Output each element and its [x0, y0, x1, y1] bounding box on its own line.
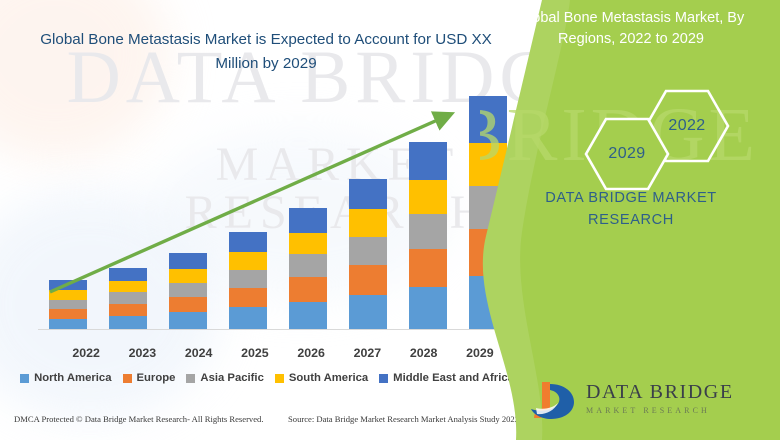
bar-column — [278, 96, 338, 329]
bar-segment[interactable] — [349, 179, 387, 209]
bar-column — [218, 96, 278, 329]
bar-segment[interactable] — [109, 304, 147, 316]
bar-segment[interactable] — [109, 292, 147, 303]
legend-swatch — [123, 374, 132, 383]
x-axis-label: 2027 — [339, 346, 395, 360]
legend-swatch — [20, 374, 29, 383]
logo-text: DATA BRIDGE MARKET RESEARCH — [586, 381, 734, 415]
legend-label: South America — [289, 372, 368, 384]
brand-panel: BRIDGE Global Bone Metastasis Market, By… — [480, 0, 780, 440]
legend-item[interactable]: Asia Pacific — [186, 372, 263, 384]
bar-segment[interactable] — [409, 142, 447, 180]
stacked-bar[interactable] — [229, 232, 267, 329]
bar-segment[interactable] — [289, 208, 327, 233]
hexagon-2029-label: 2029 — [584, 145, 670, 163]
bar-segment[interactable] — [169, 312, 207, 329]
bar-segment[interactable] — [229, 252, 267, 270]
legend-swatch — [186, 374, 195, 383]
footer: DMCA Protected © Data Bridge Market Rese… — [0, 412, 545, 436]
bar-segment[interactable] — [409, 249, 447, 287]
infographic-root: DATA BRIDGE MARKET RESEARCH Global Bone … — [0, 0, 780, 440]
x-axis-labels: 20222023202420252026202720282029 — [58, 346, 508, 360]
chart-plot-area: 20222023202420252026202720282029 — [38, 96, 518, 338]
x-axis-label: 2022 — [58, 346, 114, 360]
bar-segment[interactable] — [49, 309, 87, 318]
bar-segment[interactable] — [229, 270, 267, 288]
legend-item[interactable]: South America — [275, 372, 368, 384]
panel-title: Global Bone Metastasis Market, By Region… — [506, 8, 756, 49]
bar-segment[interactable] — [409, 287, 447, 329]
bar-column — [98, 96, 158, 329]
x-axis-label: 2025 — [227, 346, 283, 360]
logo-sub-text: MARKET RESEARCH — [586, 406, 734, 415]
bar-column — [158, 96, 218, 329]
bar-segment[interactable] — [349, 237, 387, 265]
bar-segment[interactable] — [349, 209, 387, 236]
panel-brand-text: DATA BRIDGE MARKET RESEARCH — [506, 188, 756, 232]
stacked-bar[interactable] — [109, 268, 147, 329]
bar-segment[interactable] — [169, 253, 207, 269]
bar-segment[interactable] — [349, 265, 387, 295]
bar-segment[interactable] — [169, 297, 207, 312]
bar-segment[interactable] — [109, 281, 147, 292]
x-axis-line — [38, 329, 518, 330]
stacked-bar[interactable] — [169, 253, 207, 329]
x-axis-label: 2024 — [171, 346, 227, 360]
logo-mark-icon — [524, 378, 580, 424]
bar-segment[interactable] — [229, 307, 267, 329]
data-bridge-logo: DATA BRIDGE MARKET RESEARCH — [524, 378, 754, 424]
bar-column — [38, 96, 98, 329]
x-axis-label: 2026 — [283, 346, 339, 360]
bar-segment[interactable] — [289, 254, 327, 277]
hexagon-group: 2022 2029 — [540, 88, 750, 183]
legend-label: North America — [34, 372, 111, 384]
bar-segment[interactable] — [349, 295, 387, 329]
stacked-bar[interactable] — [349, 179, 387, 329]
bar-column — [398, 96, 458, 329]
page-title: Global Bone Metastasis Market is Expecte… — [36, 28, 496, 75]
bar-segment[interactable] — [289, 277, 327, 302]
legend-item[interactable]: North America — [20, 372, 111, 384]
legend-swatch — [379, 374, 388, 383]
bar-segment[interactable] — [49, 290, 87, 299]
footer-dmca-text: DMCA Protected © Data Bridge Market Rese… — [14, 414, 264, 424]
bar-segment[interactable] — [109, 268, 147, 281]
bar-segment[interactable] — [409, 214, 447, 249]
legend-label: Asia Pacific — [200, 372, 263, 384]
chart-legend: North AmericaEuropeAsia PacificSouth Ame… — [12, 372, 522, 384]
legend-label: Europe — [137, 372, 176, 384]
stacked-bar[interactable] — [409, 142, 447, 329]
stacked-bar[interactable] — [49, 280, 87, 329]
bar-segment[interactable] — [289, 233, 327, 255]
bar-segment[interactable] — [169, 269, 207, 283]
bar-segment[interactable] — [49, 319, 87, 329]
bar-segment[interactable] — [109, 316, 147, 329]
legend-swatch — [275, 374, 284, 383]
stacked-bar-chart: 20222023202420252026202720282029 — [18, 96, 528, 346]
bar-segment[interactable] — [229, 232, 267, 252]
stacked-bar[interactable] — [289, 208, 327, 329]
bar-group — [38, 96, 518, 329]
panel-content: Global Bone Metastasis Market, By Region… — [480, 0, 780, 440]
bar-segment[interactable] — [169, 283, 207, 297]
bar-segment[interactable] — [229, 288, 267, 308]
hexagon-2029: 2029 — [584, 116, 670, 192]
bar-segment[interactable] — [289, 302, 327, 329]
bar-column — [338, 96, 398, 329]
bar-segment[interactable] — [49, 280, 87, 290]
bar-segment[interactable] — [409, 180, 447, 214]
logo-main-text: DATA BRIDGE — [586, 381, 734, 404]
bar-segment[interactable] — [49, 300, 87, 309]
legend-item[interactable]: Europe — [123, 372, 176, 384]
x-axis-label: 2023 — [114, 346, 170, 360]
x-axis-label: 2028 — [396, 346, 452, 360]
